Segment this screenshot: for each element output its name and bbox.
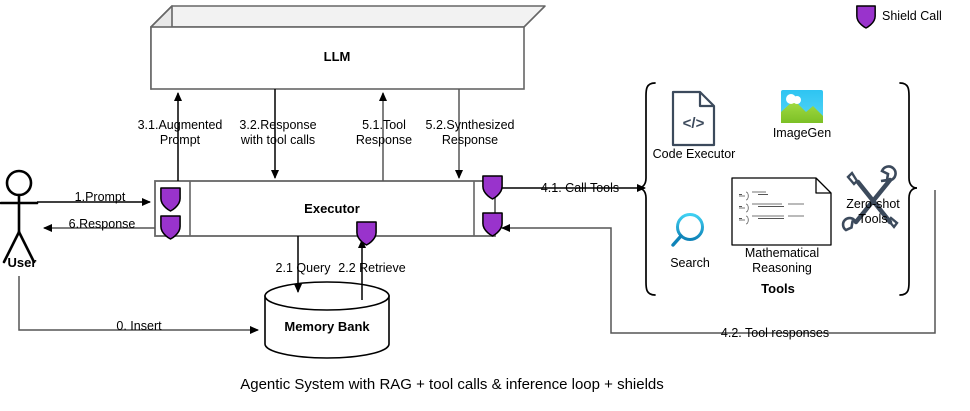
tool-label-imagegen: ImageGen: [773, 126, 831, 141]
code-document-icon[interactable]: </>: [673, 92, 714, 145]
tool-label-math: Mathematical Reasoning: [745, 246, 819, 276]
memory-bank-label: Memory Bank: [284, 319, 369, 334]
tool-label-zero-shot: Zero-shot Tools: [846, 197, 900, 227]
tools-left-brace: [638, 83, 655, 295]
user-stick-figure[interactable]: [1, 171, 37, 262]
flow-label-tool-responses: 4.2. Tool responses: [721, 326, 829, 341]
tool-label-search: Search: [670, 256, 710, 271]
flow-label-augmented-prompt: 3.1.Augmented Prompt: [138, 118, 223, 148]
flow-label-query: 2.1 Query: [276, 261, 331, 276]
user-label: User: [8, 255, 37, 270]
formula-document-icon[interactable]: [732, 178, 831, 245]
flow-label-tool-response: 5.1.Tool Response: [356, 118, 412, 148]
flow-label-response-tool-calls: 3.2.Response with tool calls: [239, 118, 316, 148]
flow-label-response: 6.Response: [69, 217, 136, 232]
shield-icon-middle[interactable]: [357, 222, 376, 245]
flow-label-retrieve: 2.2 Retrieve: [338, 261, 405, 276]
tool-label-code-executor: Code Executor: [653, 147, 736, 162]
image-photo-icon[interactable]: [781, 90, 823, 123]
diagram-canvas: </>: [0, 0, 970, 411]
flow-label-insert: 0. Insert: [116, 319, 161, 334]
llm-box[interactable]: [151, 6, 545, 89]
flow-label-call-tools: 4.1. Call Tools: [541, 181, 619, 196]
executor-label: Executor: [304, 201, 360, 216]
flow-label-prompt: 1.Prompt: [75, 190, 126, 205]
diagram-caption: Agentic System with RAG + tool calls & i…: [240, 376, 664, 394]
legend-label: Shield Call: [882, 9, 942, 24]
tools-right-brace: [900, 83, 917, 295]
llm-label: LLM: [324, 49, 351, 64]
shield-icon-legend[interactable]: [857, 6, 875, 28]
diagram-vector-layer: </>: [0, 0, 970, 411]
tools-group-label: Tools: [761, 281, 795, 296]
magnifier-icon[interactable]: [673, 215, 703, 246]
flow-label-synthesized-response: 5.2.Synthesized Response: [426, 118, 515, 148]
svg-text:</>: </>: [683, 115, 705, 132]
